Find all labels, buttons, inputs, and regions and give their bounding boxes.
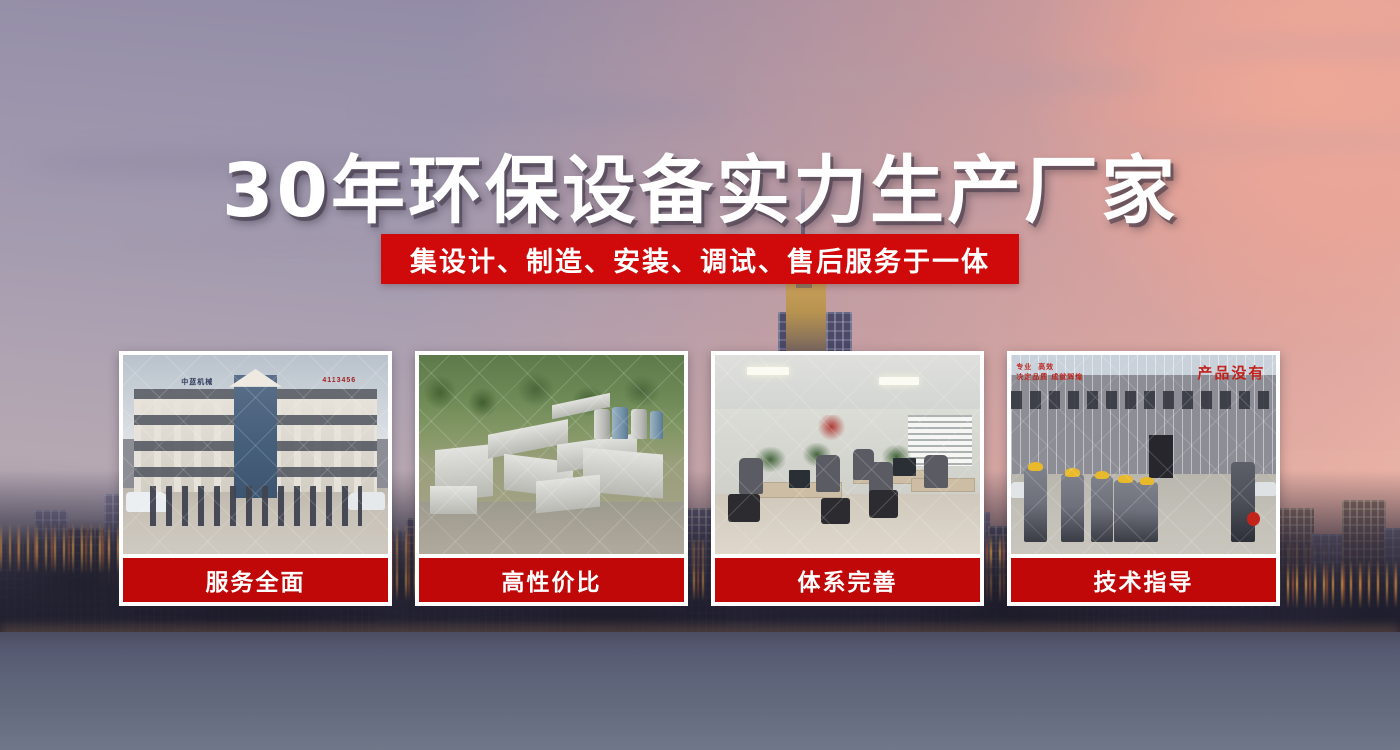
page-title: 30年环保设备实力生产厂家 <box>0 131 1400 238</box>
card-caption: 服务全面 <box>119 558 392 606</box>
card-photo-office-building: 中蓝机械 4113456 <box>123 355 388 554</box>
skyscraper-lit-crown <box>786 280 826 360</box>
card-photo-industrial-plant <box>419 355 684 554</box>
subtitle-bar: 集设计、制造、安装、调试、售后服务于一体 <box>381 234 1019 284</box>
factory-slogan-text: 专业 高效决定品质 成就辉煌 <box>1016 363 1083 384</box>
card-photo-office-interior <box>715 355 980 554</box>
subtitle-text: 集设计、制造、安装、调试、售后服务于一体 <box>410 240 990 279</box>
feature-card-row: 中蓝机械 4113456 服务全面 <box>119 351 1280 606</box>
card-caption: 高性价比 <box>415 558 688 606</box>
building-phone-text: 4113456 <box>322 377 356 384</box>
building-sign-text: 中蓝机械 <box>181 377 213 387</box>
promo-banner: 30年环保设备实力生产厂家 集设计、制造、安装、调试、售后服务于一体 中蓝机械 … <box>0 0 1400 750</box>
card-caption: 技术指导 <box>1007 558 1280 606</box>
feature-card[interactable]: 体系完善 <box>711 351 984 606</box>
card-photo-workers-factory: 产品没有 专业 高效决定品质 成就辉煌 <box>1011 355 1276 554</box>
feature-card[interactable]: 产品没有 专业 高效决定品质 成就辉煌 技术指导 <box>1007 351 1280 606</box>
feature-card[interactable]: 中蓝机械 4113456 服务全面 <box>119 351 392 606</box>
card-caption: 体系完善 <box>711 558 984 606</box>
feature-card[interactable]: 高性价比 <box>415 351 688 606</box>
river <box>0 632 1400 750</box>
